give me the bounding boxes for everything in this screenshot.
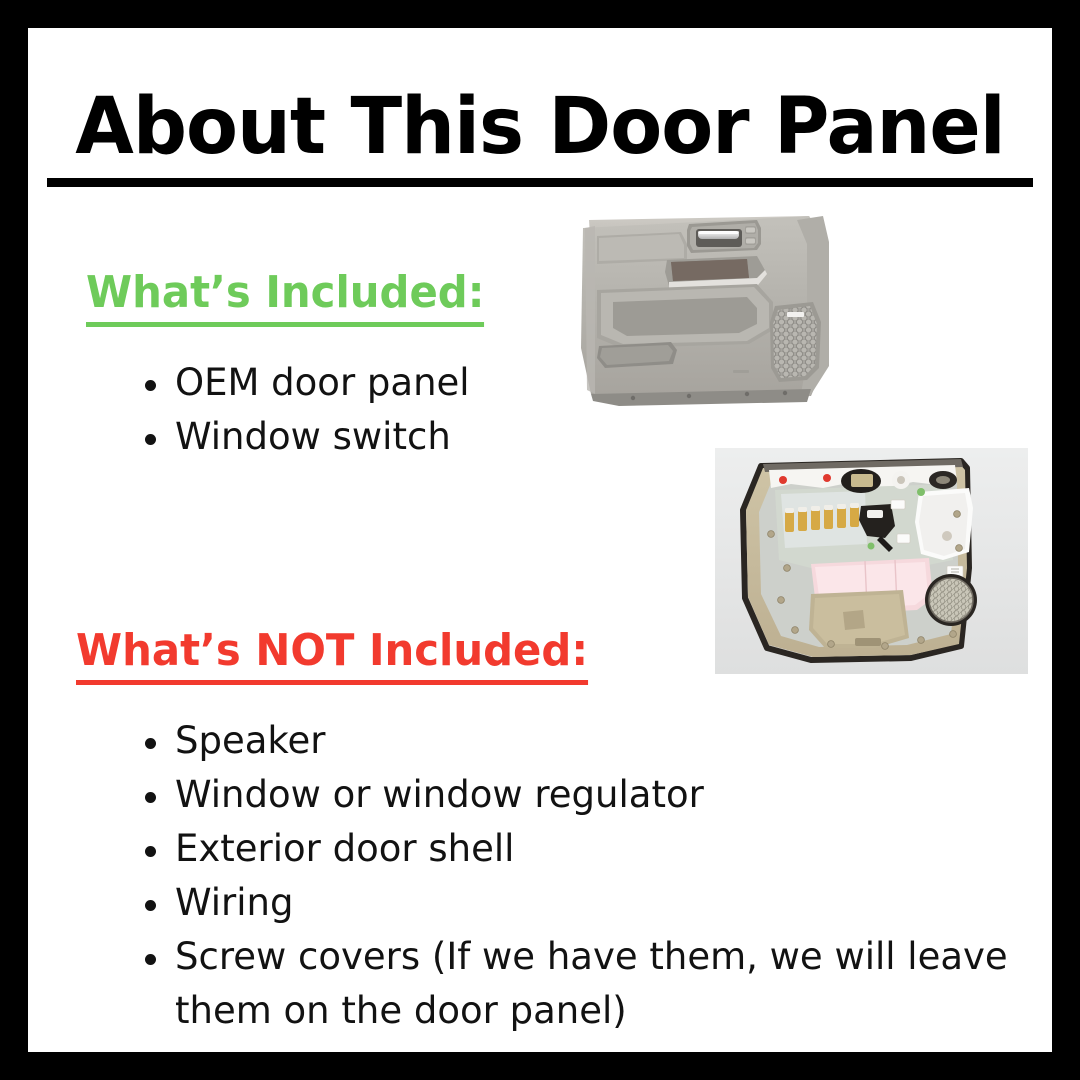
included-heading-block: What’s Included: — [86, 268, 484, 327]
door-panel-back-photo — [715, 448, 1028, 674]
black-border-frame: About This Door Panel What’s Included: O… — [0, 0, 1080, 1080]
content-canvas: About This Door Panel What’s Included: O… — [28, 28, 1052, 1052]
page-title: About This Door Panel — [62, 84, 1018, 170]
page-title-underline — [47, 178, 1033, 187]
list-item: Window or window regulator — [175, 768, 1025, 822]
list-item: OEM door panel — [175, 356, 470, 410]
not-included-heading-block: What’s NOT Included: — [76, 626, 588, 685]
not-included-heading-underline — [76, 680, 588, 685]
not-included-heading: What’s NOT Included: — [76, 625, 588, 676]
list-item: Exterior door shell — [175, 822, 1025, 876]
included-heading-underline — [86, 322, 484, 327]
list-item: Window switch — [175, 410, 470, 464]
door-panel-front-photo — [561, 198, 851, 423]
list-item: Wiring — [175, 876, 1025, 930]
list-item: Speaker — [175, 714, 1025, 768]
list-item: Screw covers (If we have them, we will l… — [175, 930, 1025, 1038]
page-title-block: About This Door Panel — [47, 84, 1033, 187]
not-included-list: Speaker Window or window regulator Exter… — [145, 714, 1025, 1038]
included-heading: What’s Included: — [86, 267, 484, 318]
included-list: OEM door panel Window switch — [145, 356, 470, 464]
